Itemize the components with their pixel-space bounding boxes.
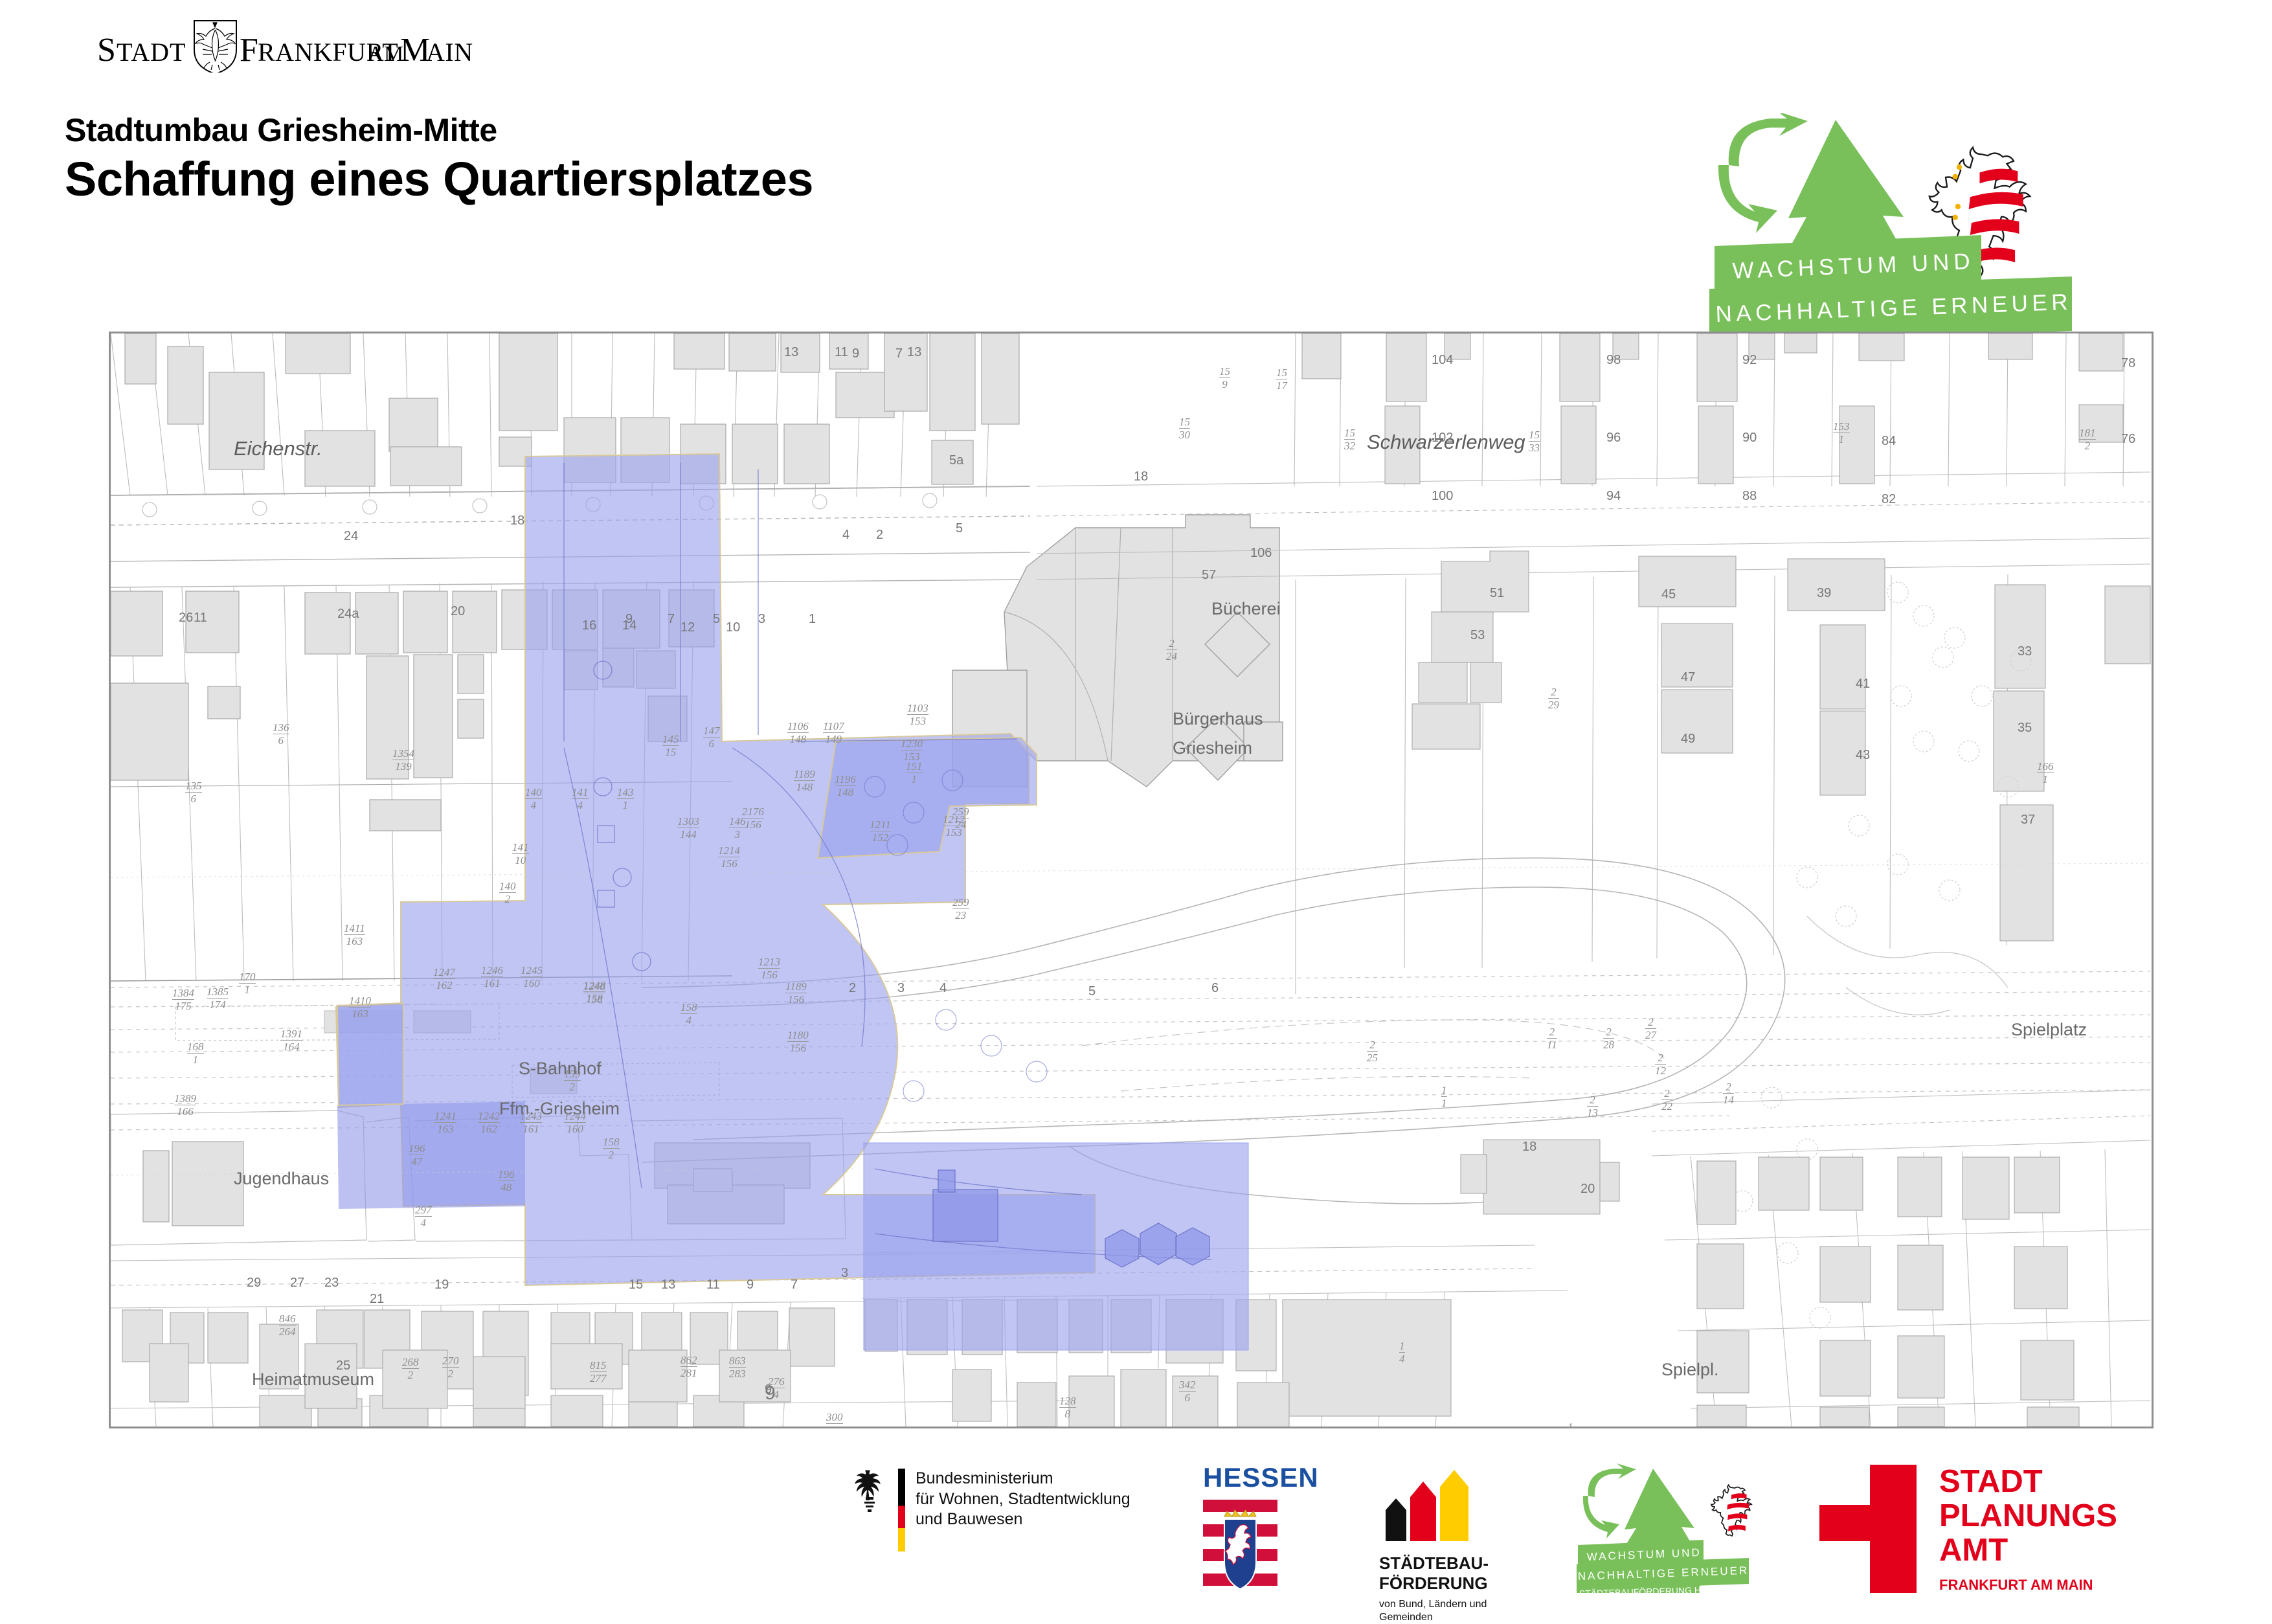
parcel-numerator: 2 <box>1645 1017 1656 1029</box>
parcel-denominator: 156 <box>742 818 764 830</box>
parcel-numerator: 1243 <box>520 1111 542 1123</box>
parcel-numerator: 2176 <box>742 806 764 818</box>
parcel-denominator: 152 <box>870 831 891 843</box>
staedtebaufoerderung-logo: STÄDTEBAU- FÖRDERUNG von Bund, Ländern u… <box>1379 1470 1489 1624</box>
house-number: 13 <box>907 345 921 360</box>
parcel-number: 1303144 <box>677 816 699 840</box>
parcel-denominator: 24 <box>1166 650 1177 662</box>
house-number: 43 <box>1856 748 1870 763</box>
parcel-number: 14110 <box>512 842 529 866</box>
staedtebau-line1: STÄDTEBAU- <box>1379 1553 1489 1573</box>
parcel-denominator: 156 <box>785 993 807 1005</box>
parcel-numerator: 141 <box>572 787 589 799</box>
parcel-number: 1288 <box>1059 1395 1076 1419</box>
house-number: 12 <box>680 620 695 635</box>
bmwsb-text: Bundesministerium für Wohnen, Stadtentwi… <box>916 1469 1130 1530</box>
parcel-numerator: 1241 <box>434 1111 456 1123</box>
parcel-denominator: 174 <box>207 998 229 1010</box>
parcel-number: 1366 <box>273 722 289 746</box>
parcel-number: 1180156 <box>787 1030 809 1054</box>
parcel-denominator: 30 <box>1179 429 1190 440</box>
parcel-numerator: 15 <box>1276 367 1287 379</box>
parcel-number: 213 <box>1587 1094 1598 1118</box>
parcel-number: 1213156 <box>758 956 780 980</box>
parcel-number: 1243161 <box>520 1111 542 1134</box>
parcel-denominator: 149 <box>823 733 844 745</box>
parcel-number: 19647 <box>409 1143 425 1167</box>
parcel-denominator: 160 <box>521 977 543 989</box>
parcel-numerator: 2 <box>1587 1094 1598 1107</box>
parcel-numerator: 300 <box>826 1412 843 1424</box>
parcel-numerator: 1180 <box>787 1030 809 1042</box>
house-number: 25 <box>336 1359 350 1373</box>
house-number: 26 <box>179 611 193 626</box>
parcel-number: 1592 <box>564 1068 581 1092</box>
parcel-numerator: 147 <box>703 725 720 738</box>
house-number: 51 <box>1490 586 1504 601</box>
staedtebau-sub: von Bund, Ländern und Gemeinden <box>1379 1598 1489 1624</box>
parcel-numerator: 1211 <box>870 819 891 831</box>
parcel-numerator: 2 <box>1661 1088 1672 1100</box>
parcel-denominator: 2 <box>564 1081 581 1092</box>
parcel-number: 1681 <box>187 1041 204 1065</box>
parcel-denominator: 11 <box>1547 1039 1557 1050</box>
house-number: 24 <box>344 529 358 544</box>
parcel-denominator: 32 <box>1344 440 1355 451</box>
hessen-flag-icon <box>1203 1497 1277 1597</box>
house-number: 94 <box>1606 489 1621 504</box>
parcel-numerator: 268 <box>402 1357 419 1369</box>
parcel-numerator: 270 <box>442 1355 459 1368</box>
parcel-numerator: 128 <box>1059 1395 1076 1408</box>
house-number: 76 <box>2121 432 2135 447</box>
parcel-number: 212 <box>1655 1052 1666 1076</box>
parcel-numerator: 1410 <box>349 995 371 1008</box>
place-label: Spielpl. <box>1661 1360 1719 1380</box>
house-number: 5 <box>956 521 963 536</box>
parcel-denominator: 1 <box>906 773 923 785</box>
house-number: 9 <box>747 1278 754 1292</box>
parcel-numerator: 136 <box>273 722 289 734</box>
parcel-denominator: 164 <box>280 1041 302 1052</box>
house-number: 13 <box>661 1278 675 1292</box>
spa-mark-icon <box>1819 1465 1917 1593</box>
parcel-number: 1107149 <box>823 721 844 745</box>
parcel-number: 863283 <box>729 1355 746 1379</box>
parcel-denominator: 175 <box>172 1000 194 1011</box>
parcel-numerator: 1 <box>1568 1421 1573 1428</box>
house-number: 53 <box>1470 628 1485 643</box>
parcel-numerator: 2 <box>1547 1026 1557 1039</box>
place-label: Bücherei <box>1211 599 1281 619</box>
parcel-number: 1246161 <box>481 965 503 989</box>
parcel-number: 1701 <box>239 971 256 995</box>
parcel-numerator: 196 <box>409 1143 425 1155</box>
parcel-number: 1517 <box>1276 367 1287 391</box>
parcel-numerator: 145 <box>662 734 679 746</box>
parcel-number: 224 <box>1166 638 1177 662</box>
parcel-numerator: 159 <box>564 1068 581 1081</box>
parcel-number: 229 <box>1548 686 1559 710</box>
parcel-number: 1189156 <box>785 981 807 1005</box>
parcel-numerator: 153 <box>1833 421 1850 433</box>
bmwsb-line1: Bundesministerium <box>916 1469 1130 1489</box>
parcel-denominator: 153 <box>901 750 923 762</box>
parcel-denominator: 148 <box>794 781 815 793</box>
house-number: 15 <box>629 1278 643 1292</box>
parcel-denominator: 29 <box>1548 699 1559 710</box>
svg-text:F: F <box>240 32 258 69</box>
parcel-denominator: 24 <box>952 818 969 830</box>
house-number: 90 <box>1742 431 1757 445</box>
house-number: 1 <box>809 612 816 627</box>
parcel-denominator: 6 <box>703 738 720 749</box>
parcel-denominator: 14 <box>1723 1094 1734 1105</box>
parcel-denominator: 25 <box>1367 1052 1378 1063</box>
parcel-denominator: 23 <box>952 909 969 921</box>
parcel-numerator: 1389 <box>174 1093 196 1105</box>
house-number: 47 <box>1681 670 1695 685</box>
parcel-denominator: 2 <box>2079 440 2096 451</box>
house-number: 16 <box>582 618 596 633</box>
parcel-numerator: 196 <box>498 1169 515 1181</box>
parcel-number: 1391164 <box>280 1028 302 1052</box>
parcel-number: 225 <box>1367 1039 1378 1063</box>
house-number: 9 <box>625 612 633 627</box>
parcel-denominator: 1 <box>1833 433 1850 445</box>
german-flag-bar <box>898 1469 905 1551</box>
parcel-denominator: 153 <box>907 715 928 727</box>
parcel-number: 1242162 <box>478 1111 500 1134</box>
parcel-denominator: 4 <box>415 1217 432 1228</box>
parcel-denominator: 2 <box>499 893 516 905</box>
parcel-number: 862281 <box>680 1355 697 1379</box>
parcel-number: 1476 <box>703 725 720 749</box>
house-number: 4 <box>842 528 849 543</box>
house-number: 100 <box>1432 489 1453 504</box>
house-number: 37 <box>2021 813 2035 828</box>
parcel-numerator: 1242 <box>478 1111 500 1123</box>
parcel-denominator: 139 <box>392 760 414 772</box>
house-number: 88 <box>1742 489 1757 504</box>
parcel-denominator: 161 <box>481 977 503 989</box>
parcel-number: 17 <box>1568 1421 1573 1428</box>
svg-text:S: S <box>97 32 116 69</box>
title-block: Stadtumbau Griesheim-Mitte Schaffung ein… <box>65 113 813 205</box>
house-number: 27 <box>290 1276 304 1291</box>
parcel-numerator: 1213 <box>758 956 780 969</box>
parcel-number: 1244160 <box>564 1111 586 1134</box>
parcel-number: 214 <box>1723 1081 1734 1105</box>
house-number: 24a <box>337 607 359 622</box>
footer-logos: Bundesministerium für Wohnen, Stadtentwi… <box>0 1457 2272 1606</box>
parcel-denominator: 2 <box>402 1369 419 1381</box>
parcel-denominator: 4 <box>572 799 589 811</box>
spa-line2: PLANUNGS <box>1939 1499 2117 1533</box>
parcel-number: 1385174 <box>207 986 229 1010</box>
parcel-denominator: 4 <box>680 1014 697 1026</box>
staedtebau-sub2: Gemeinden <box>1379 1611 1489 1624</box>
house-number: 3 <box>897 981 905 996</box>
parcel-denominator: 144 <box>677 828 699 840</box>
house-number: 5a <box>949 453 963 468</box>
parcel-numerator: 1106 <box>787 721 809 733</box>
parcel-numerator: 1391 <box>280 1028 302 1041</box>
parcel-number: 1248158 <box>583 980 605 1004</box>
parcel-number: 1582 <box>603 1136 620 1160</box>
city-logo: S TADT F RANKFURT AM M AIN <box>97 14 524 73</box>
parcel-denominator: 156 <box>718 857 740 869</box>
parcel-numerator: 168 <box>187 1041 204 1054</box>
parcel-number: 1196148 <box>835 774 856 798</box>
bmwsb-line3: und Bauwesen <box>916 1509 1130 1530</box>
house-number: 41 <box>1856 677 1870 692</box>
parcel-denominator: 156 <box>787 1042 809 1054</box>
house-number: 5 <box>713 612 720 627</box>
house-number: 39 <box>1817 586 1831 601</box>
house-number: 2 <box>849 981 856 996</box>
parcel-numerator: 141 <box>512 842 529 854</box>
parcel-number: 25924 <box>952 806 969 830</box>
house-number: 92 <box>1742 353 1757 368</box>
parcel-numerator: 1 <box>1441 1085 1447 1097</box>
parcel-number: 815277 <box>590 1360 607 1384</box>
house-number: 11 <box>835 345 848 360</box>
parcel-numerator: 1248 <box>583 980 605 992</box>
parcel-numerator: 1189 <box>785 981 807 993</box>
house-number: 20 <box>451 604 465 619</box>
parcel-denominator: 4 <box>525 799 542 811</box>
parcel-denominator: 2 <box>442 1368 459 1379</box>
parcel-numerator: 1196 <box>835 774 856 786</box>
parcel-denominator: 17 <box>1276 379 1287 391</box>
parcel-number: 1402 <box>499 881 516 905</box>
house-number: 29 <box>247 1276 261 1291</box>
parcel-numerator: 2 <box>1655 1052 1666 1065</box>
parcel-numerator: 1230 <box>901 738 923 750</box>
house-number: 13 <box>784 345 798 360</box>
house-number: 104 <box>1432 353 1453 368</box>
parcel-numerator: 1103 <box>907 703 928 715</box>
parcel-numerator: 1245 <box>521 965 543 977</box>
parcel-numerator: 1354 <box>392 748 414 760</box>
place-label: Heimatmuseum <box>252 1370 374 1390</box>
house-number: 18 <box>510 513 524 528</box>
house-number: 5 <box>1088 984 1096 999</box>
house-number: 11 <box>194 611 207 626</box>
parcel-number: 1354139 <box>392 748 414 772</box>
house-number: 106 <box>1250 546 1272 561</box>
parcel-numerator: 135 <box>185 780 202 793</box>
house-number: 23 <box>324 1276 339 1291</box>
house-number: 78 <box>2121 356 2135 371</box>
svg-text:AIN: AIN <box>426 38 473 67</box>
parcel-numerator: 140 <box>525 787 542 799</box>
map-drawing <box>111 333 2152 1427</box>
parcel-numerator: 276 <box>768 1376 785 1388</box>
parcel-number: 1533 <box>1529 429 1540 453</box>
place-label: Jugendhaus <box>234 1169 329 1189</box>
house-number: 82 <box>1882 492 1896 507</box>
parcel-denominator: 9 <box>1219 378 1230 390</box>
place-label: Griesheim <box>1173 738 1252 758</box>
parcel-number: 1245160 <box>521 965 543 989</box>
parcel-denominator: 12 <box>1655 1065 1666 1076</box>
house-number: 6 <box>1211 981 1219 996</box>
parcel-numerator: 166 <box>2037 761 2054 773</box>
bundesadler-icon <box>851 1469 888 1514</box>
parcel-numerator: 1189 <box>794 769 815 781</box>
parcel-denominator: 163 <box>344 935 365 947</box>
house-number: 102 <box>1432 431 1453 445</box>
parcel-number: 1812 <box>2079 427 2096 451</box>
parcel-number: 1661 <box>2037 761 2054 785</box>
parcel-numerator: 1385 <box>207 986 229 998</box>
house-number: 2 <box>876 528 883 543</box>
parcel-numerator: 2 <box>1367 1039 1378 1052</box>
parcel-numerator: 297 <box>415 1204 432 1217</box>
parcel-numerator: 259 <box>952 897 969 909</box>
parcel-numerator: 259 <box>952 806 969 818</box>
parcel-denominator: 1 <box>187 1054 204 1065</box>
house-number: 45 <box>1661 587 1676 602</box>
parcel-denominator: 163 <box>434 1123 456 1134</box>
parcel-denominator: 281 <box>680 1367 697 1379</box>
parcel-number: 1530 <box>1179 416 1190 440</box>
parcel-number: 1103153 <box>907 703 928 727</box>
parcel-denominator: 161 <box>520 1123 542 1134</box>
parcel-numerator: 1 <box>1399 1340 1405 1353</box>
parcel-numerator: 1411 <box>344 923 365 935</box>
parcel-numerator: 815 <box>590 1360 607 1372</box>
house-number: 7 <box>895 346 903 361</box>
parcel-number: 222 <box>1661 1088 1672 1112</box>
parcel-denominator: 47 <box>409 1155 425 1167</box>
parcel-denominator: 1 <box>239 984 256 995</box>
house-number: 9 <box>852 346 859 361</box>
parcel-number: 1431 <box>617 787 634 811</box>
parcel-numerator: 1107 <box>823 721 844 733</box>
parcel-number: 159 <box>1219 366 1230 390</box>
parcel-denominator: 10 <box>512 854 529 866</box>
parcel-numerator: 846 <box>279 1313 296 1325</box>
house-number: 3 <box>758 612 765 627</box>
place-label: Spielplatz <box>2011 1020 2087 1040</box>
parcel-number: 2702 <box>442 1355 459 1379</box>
parcel-numerator: 2 <box>1723 1081 1734 1094</box>
page-subtitle: Stadtumbau Griesheim-Mitte <box>65 113 813 148</box>
parcel-denominator: 27 <box>1645 1029 1656 1041</box>
house-number: 35 <box>2018 721 2032 736</box>
house-number: 57 <box>1202 568 1216 583</box>
parcel-denominator: 5 <box>826 1424 843 1428</box>
parcel-denominator: 277 <box>590 1372 607 1384</box>
parcel-numerator: 1303 <box>677 816 699 828</box>
parcel-number: 3426 <box>1179 1379 1196 1403</box>
parcel-number: 211 <box>1547 1026 1557 1050</box>
parcel-denominator: 22 <box>1661 1100 1672 1112</box>
parcel-numerator: 2 <box>1603 1026 1614 1039</box>
parcel-numerator: 15 <box>1344 427 1355 440</box>
parcel-denominator: 6 <box>185 793 202 804</box>
parcel-numerator: 2 <box>1166 638 1177 650</box>
cadastral-map[interactable]: Eichenstr.SchwarzerlenwegErzbergerstr.Am… <box>109 332 2154 1428</box>
parcel-denominator: 283 <box>729 1368 746 1379</box>
parcel-numerator: 863 <box>729 1355 746 1368</box>
house-number: 98 <box>1606 353 1621 368</box>
parcel-number: 1532 <box>1344 427 1355 451</box>
house-number: 33 <box>2018 644 2032 659</box>
parcel-numerator: 862 <box>680 1355 697 1367</box>
parcel-denominator: 1 <box>1441 1097 1447 1109</box>
parcel-denominator: 1 <box>2037 773 2054 785</box>
parcel-number: 1511 <box>906 761 923 785</box>
parcel-denominator: 1 <box>617 799 634 811</box>
parcel-denominator: 4 <box>768 1388 785 1400</box>
parcel-denominator: 48 <box>498 1181 515 1193</box>
parcel-numerator: 158 <box>603 1136 620 1149</box>
house-number: 10 <box>726 620 740 635</box>
parcel-numerator: 1246 <box>481 965 503 977</box>
parcel-denominator: 160 <box>564 1123 586 1134</box>
house-number: 18 <box>1134 469 1148 484</box>
parcel-numerator: 1244 <box>564 1111 586 1123</box>
parcel-denominator: 264 <box>279 1325 296 1337</box>
parcel-number: 3005 <box>826 1412 843 1428</box>
parcel-denominator: 156 <box>758 969 780 980</box>
parcel-denominator: 6 <box>273 734 289 746</box>
parcel-number: 2974 <box>415 1204 432 1228</box>
svg-text:AM: AM <box>368 42 404 66</box>
parcel-denominator: 166 <box>174 1105 196 1117</box>
house-number: 4 <box>939 981 947 996</box>
hessen-logo: HESSEN <box>1203 1462 1319 1601</box>
program-logo-footer: WACHSTUM UND NACHHALTIGE ERNEUERUNG STÄD… <box>1577 1463 1771 1596</box>
parcel-numerator: 2 <box>1548 686 1559 699</box>
parcel-number: 1531 <box>1833 421 1850 445</box>
parcel-number: 1389166 <box>174 1093 196 1117</box>
parcel-denominator: 162 <box>478 1123 500 1134</box>
staedtebau-line2: FÖRDERUNG <box>1379 1573 1489 1594</box>
parcel-numerator: 15 <box>1529 429 1540 442</box>
parcel-number: 1414 <box>572 787 589 811</box>
parcel-numerator: 1247 <box>433 967 455 979</box>
page-title: Schaffung eines Quartiersplatzes <box>65 153 813 205</box>
street-label: Eichenstr. <box>234 437 322 460</box>
place-label: Bürgerhaus <box>1173 709 1263 729</box>
parcel-number: 1230153 <box>901 738 923 762</box>
parcel-number: 14 <box>1399 1340 1405 1364</box>
parcel-number: 2764 <box>768 1376 785 1400</box>
parcel-number: 14515 <box>662 734 679 758</box>
house-number: 11 <box>706 1278 720 1292</box>
bmwsb-logo: Bundesministerium für Wohnen, Stadtentwi… <box>851 1469 1130 1551</box>
svg-text:TADT: TADT <box>117 38 186 67</box>
house-number: 3 <box>841 1266 848 1281</box>
spa-sub: FRANKFURT AM MAIN <box>1939 1577 2117 1594</box>
spa-line3: AMT <box>1939 1533 2117 1568</box>
parcel-numerator: 1384 <box>172 987 194 1000</box>
parcel-numerator: 140 <box>499 881 516 893</box>
house-number: 84 <box>1882 434 1896 449</box>
parcel-numerator: 158 <box>680 1002 697 1014</box>
parcel-denominator: 6 <box>1179 1392 1196 1403</box>
parcel-number: 1241163 <box>434 1111 456 1134</box>
house-number: 20 <box>1580 1182 1595 1197</box>
parcel-number: 2682 <box>402 1357 419 1381</box>
parcel-numerator: 143 <box>617 787 634 799</box>
parcel-number: 1356 <box>185 780 202 804</box>
